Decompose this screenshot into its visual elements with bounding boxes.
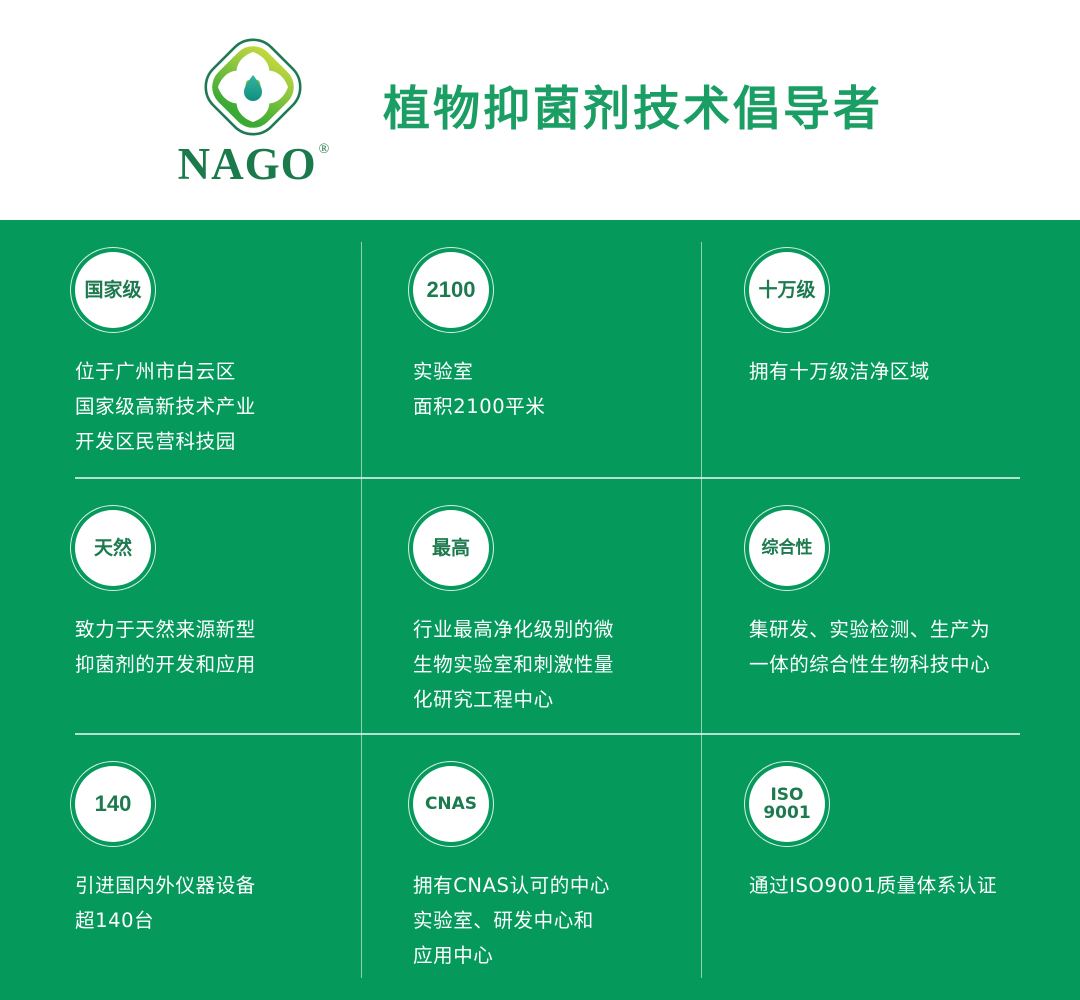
feature-badge-label: ISO 9001: [763, 786, 810, 822]
header: NAGO® 植物抑菌剂技术倡导者: [0, 0, 1080, 220]
feature-badge-label: 最高: [432, 538, 470, 558]
feature-badge-label: 十万级: [758, 280, 815, 300]
brand-wordmark: NAGO®: [178, 142, 329, 187]
feature-badge: 最高: [413, 510, 489, 586]
feature-description: 引进国内外仪器设备 超140台: [75, 868, 345, 938]
feature-description: 行业最高净化级别的微 生物实验室和刺激性量 化研究工程中心: [413, 612, 683, 717]
feature-badge: 140: [75, 766, 151, 842]
feature-badge: 综合性: [749, 510, 825, 586]
features-grid: 国家级 位于广州市白云区 国家级高新技术产业 开发区民营科技园 2100 实验室…: [0, 220, 1080, 1000]
feature-cell: 国家级 位于广州市白云区 国家级高新技术产业 开发区民营科技园: [75, 252, 345, 459]
feature-cell: 最高 行业最高净化级别的微 生物实验室和刺激性量 化研究工程中心: [413, 510, 683, 717]
infographic-page: NAGO® 植物抑菌剂技术倡导者 国家级 位于广州市白云区 国家级高新技术产业 …: [0, 0, 1080, 1000]
feature-cell: CNAS 拥有CNAS认可的中心 实验室、研发中心和 应用中心: [413, 766, 683, 973]
feature-cell: 综合性 集研发、实验检测、生产为 一体的综合性生物科技中心: [749, 510, 1049, 682]
feature-description: 拥有CNAS认可的中心 实验室、研发中心和 应用中心: [413, 868, 683, 973]
feature-badge-label: 天然: [94, 538, 132, 558]
feature-description: 集研发、实验检测、生产为 一体的综合性生物科技中心: [749, 612, 1049, 682]
nago-logo-icon: [194, 28, 312, 146]
feature-description: 通过ISO9001质量体系认证: [749, 868, 1049, 903]
features-panel: 国家级 位于广州市白云区 国家级高新技术产业 开发区民营科技园 2100 实验室…: [0, 220, 1080, 1000]
feature-description: 拥有十万级洁净区域: [749, 354, 1049, 389]
feature-badge: CNAS: [413, 766, 489, 842]
feature-description: 位于广州市白云区 国家级高新技术产业 开发区民营科技园: [75, 354, 345, 459]
feature-badge-label: 国家级: [84, 280, 141, 300]
feature-cell: 140 引进国内外仪器设备 超140台: [75, 766, 345, 938]
feature-cell: 天然 致力于天然来源新型 抑菌剂的开发和应用: [75, 510, 345, 682]
page-title: 植物抑菌剂技术倡导者: [383, 86, 883, 133]
registered-mark-icon: ®: [319, 142, 331, 157]
feature-description: 实验室 面积2100平米: [413, 354, 683, 424]
grid-divider-horizontal-2: [75, 733, 1020, 735]
feature-badge-label: 综合性: [762, 539, 813, 557]
feature-badge: ISO 9001: [749, 766, 825, 842]
feature-badge-label: CNAS: [425, 795, 477, 813]
feature-badge-label: 140: [95, 792, 132, 815]
grid-divider-horizontal-1: [75, 477, 1020, 479]
grid-divider-vertical-1: [361, 242, 362, 978]
feature-badge: 国家级: [75, 252, 151, 328]
brand-lockup: NAGO®: [168, 28, 338, 196]
grid-divider-vertical-2: [701, 242, 702, 978]
wordmark-text: NAGO: [178, 139, 317, 189]
feature-badge: 十万级: [749, 252, 825, 328]
feature-cell: 十万级 拥有十万级洁净区域: [749, 252, 1049, 389]
feature-badge: 天然: [75, 510, 151, 586]
feature-badge-label: 2100: [427, 278, 476, 301]
feature-cell: ISO 9001 通过ISO9001质量体系认证: [749, 766, 1049, 903]
feature-description: 致力于天然来源新型 抑菌剂的开发和应用: [75, 612, 345, 682]
feature-cell: 2100 实验室 面积2100平米: [413, 252, 683, 424]
feature-badge: 2100: [413, 252, 489, 328]
